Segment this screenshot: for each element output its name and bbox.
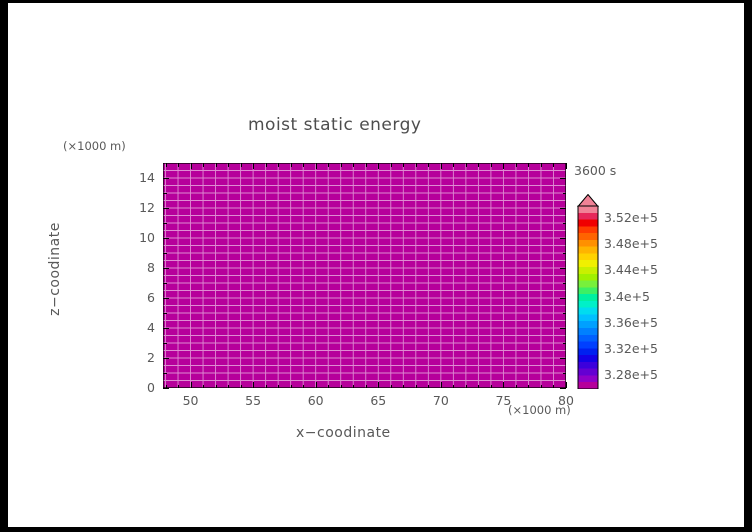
x-tick-major <box>378 382 379 388</box>
y-tick-minor-right <box>563 223 567 224</box>
x-tick-minor-top <box>216 163 217 167</box>
y-tick-minor <box>163 193 167 194</box>
x-tick-major-top <box>441 163 442 169</box>
y-tick-minor-right <box>563 313 567 314</box>
x-tick-minor-top <box>453 163 454 167</box>
y-tick-minor-right <box>563 373 567 374</box>
y-tick-major <box>163 178 169 179</box>
x-tick-minor-top <box>353 163 354 167</box>
x-tick-minor-top <box>466 163 467 167</box>
x-tick-minor-top <box>428 163 429 167</box>
time-annotation: 3600 s <box>574 163 616 178</box>
y-tick-major-right <box>560 388 566 389</box>
x-tick-major <box>566 382 567 388</box>
x-tick-minor-top <box>203 163 204 167</box>
x-tick-minor-top <box>478 163 479 167</box>
x-tick-minor-top <box>166 163 167 167</box>
colorbar-tick-label: 3.4e+5 <box>604 289 650 304</box>
y-tick-minor-right <box>563 193 567 194</box>
x-tick-minor <box>541 385 542 389</box>
y-axis-unit: (×1000 m) <box>63 139 126 153</box>
x-tick-major-top <box>566 163 567 169</box>
y-tick-minor <box>163 223 167 224</box>
x-tick-major-top <box>503 163 504 169</box>
y-tick-major-right <box>560 208 566 209</box>
x-tick-minor <box>341 385 342 389</box>
x-tick-minor <box>353 385 354 389</box>
x-tick-label: 50 <box>169 393 213 408</box>
x-tick-minor-top <box>278 163 279 167</box>
y-tick-major <box>163 208 169 209</box>
x-tick-minor <box>303 385 304 389</box>
x-tick-label: 55 <box>231 393 275 408</box>
x-tick-minor-top <box>553 163 554 167</box>
x-tick-minor-top <box>266 163 267 167</box>
x-tick-major <box>316 382 317 388</box>
x-tick-minor <box>453 385 454 389</box>
y-tick-minor-right <box>563 283 567 284</box>
x-tick-minor-top <box>491 163 492 167</box>
x-tick-minor-top <box>516 163 517 167</box>
page-title: moist static energy <box>248 115 421 135</box>
x-tick-minor <box>203 385 204 389</box>
y-tick-major <box>163 298 169 299</box>
x-axis-label: x−coodinate <box>296 425 391 441</box>
x-tick-minor <box>478 385 479 389</box>
y-tick-minor <box>163 283 167 284</box>
x-tick-minor <box>516 385 517 389</box>
y-tick-minor <box>163 343 167 344</box>
x-tick-minor <box>328 385 329 389</box>
y-tick-major-right <box>560 268 566 269</box>
x-tick-major <box>441 382 442 388</box>
contour-plot-area <box>163 163 566 388</box>
colorbar-tick-label: 3.48e+5 <box>604 236 658 251</box>
x-tick-minor-top <box>241 163 242 167</box>
x-tick-minor <box>391 385 392 389</box>
y-tick-major <box>163 388 169 389</box>
x-tick-minor-top <box>291 163 292 167</box>
y-tick-label: 6 <box>123 290 155 305</box>
y-tick-minor <box>163 253 167 254</box>
x-tick-major-top <box>316 163 317 169</box>
x-tick-minor <box>491 385 492 389</box>
x-tick-label: 75 <box>481 393 525 408</box>
x-tick-minor-top <box>403 163 404 167</box>
y-tick-major-right <box>560 328 566 329</box>
x-tick-minor <box>216 385 217 389</box>
x-tick-minor <box>228 385 229 389</box>
colorbar-tick-label: 3.52e+5 <box>604 210 658 225</box>
colorbar-tick-label: 3.28e+5 <box>604 367 658 382</box>
x-tick-minor <box>291 385 292 389</box>
x-tick-minor <box>428 385 429 389</box>
x-tick-label: 80 <box>544 393 588 408</box>
colorbar-tick-label: 3.32e+5 <box>604 341 658 356</box>
x-tick-minor-top <box>341 163 342 167</box>
x-tick-minor <box>241 385 242 389</box>
x-tick-minor-top <box>541 163 542 167</box>
x-tick-minor <box>266 385 267 389</box>
x-tick-minor-top <box>228 163 229 167</box>
y-tick-major-right <box>560 238 566 239</box>
colorbar-tick-label: 3.44e+5 <box>604 262 658 277</box>
y-tick-minor <box>163 313 167 314</box>
x-tick-minor <box>466 385 467 389</box>
y-tick-label: 12 <box>123 200 155 215</box>
colorbar-swatches <box>577 194 599 389</box>
x-tick-label: 60 <box>294 393 338 408</box>
x-tick-minor <box>416 385 417 389</box>
x-tick-minor-top <box>328 163 329 167</box>
y-tick-minor-right <box>563 253 567 254</box>
x-tick-minor <box>278 385 279 389</box>
x-tick-minor-top <box>178 163 179 167</box>
y-axis-label: z−coodinate <box>47 209 63 329</box>
y-tick-minor-right <box>563 343 567 344</box>
x-tick-minor-top <box>303 163 304 167</box>
x-tick-minor-top <box>391 163 392 167</box>
x-tick-minor-top <box>528 163 529 167</box>
x-tick-major <box>503 382 504 388</box>
x-tick-minor <box>553 385 554 389</box>
x-tick-minor <box>528 385 529 389</box>
x-tick-minor <box>178 385 179 389</box>
x-tick-minor <box>403 385 404 389</box>
y-tick-major-right <box>560 178 566 179</box>
contour-field <box>163 163 566 388</box>
x-tick-label: 65 <box>356 393 400 408</box>
y-tick-minor <box>163 373 167 374</box>
colorbar-tick-label: 3.36e+5 <box>604 315 658 330</box>
figure-canvas: moist static energy (×1000 m) (×1000 m) … <box>8 3 744 527</box>
y-tick-label: 8 <box>123 260 155 275</box>
x-tick-major <box>253 382 254 388</box>
y-tick-label: 0 <box>123 380 155 395</box>
y-tick-major <box>163 328 169 329</box>
x-tick-major-top <box>378 163 379 169</box>
x-tick-major-top <box>253 163 254 169</box>
colorbar <box>577 194 599 389</box>
x-tick-label: 70 <box>419 393 463 408</box>
y-tick-major-right <box>560 358 566 359</box>
x-tick-minor-top <box>416 163 417 167</box>
x-tick-major-top <box>191 163 192 169</box>
x-tick-major <box>191 382 192 388</box>
x-tick-minor-top <box>366 163 367 167</box>
y-tick-major <box>163 268 169 269</box>
y-tick-major <box>163 238 169 239</box>
y-tick-label: 14 <box>123 170 155 185</box>
y-tick-label: 4 <box>123 320 155 335</box>
y-tick-label: 10 <box>123 230 155 245</box>
y-tick-major <box>163 358 169 359</box>
y-tick-label: 2 <box>123 350 155 365</box>
x-tick-minor <box>366 385 367 389</box>
y-tick-major-right <box>560 298 566 299</box>
